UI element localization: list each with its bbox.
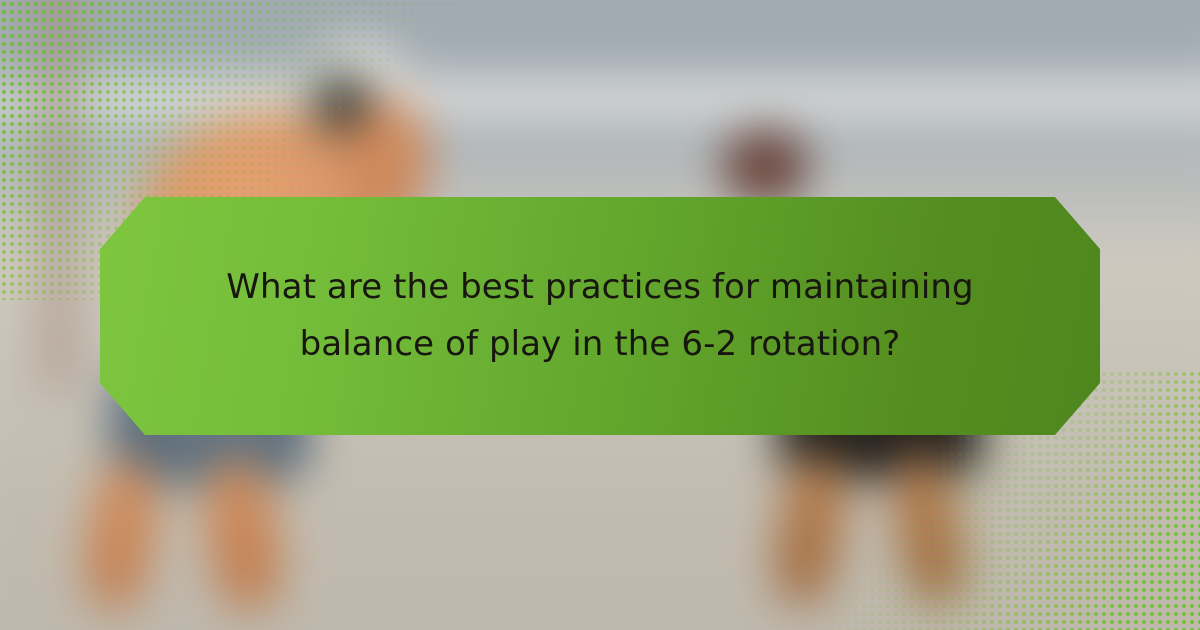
question-card: What are the best practices for maintain… (0, 0, 1200, 630)
net-post (38, 0, 80, 390)
question-banner: What are the best practices for maintain… (100, 197, 1100, 435)
net-tape (80, 78, 1200, 98)
right-player-head (722, 128, 808, 204)
question-text: What are the best practices for maintain… (124, 259, 1076, 373)
